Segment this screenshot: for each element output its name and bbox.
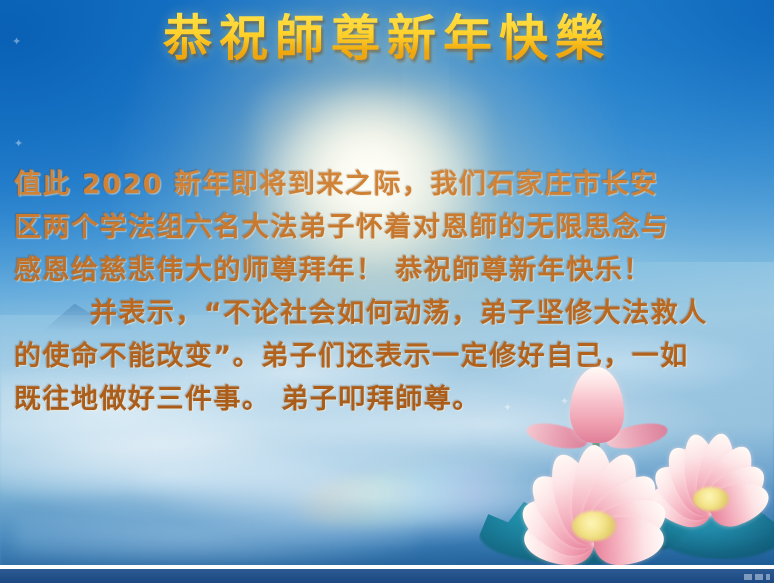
- lotus-center: [572, 511, 616, 541]
- lotus-center: [693, 487, 729, 511]
- card-headline: 恭祝師尊新年快樂: [0, 12, 774, 67]
- body-line: 感恩给慈悲伟大的师尊拜年！ 恭祝師尊新年快乐！: [14, 249, 760, 292]
- body-line: 值此 2020 新年即将到来之际，我们石家庄市长安: [14, 163, 760, 206]
- bottom-band: [0, 569, 774, 583]
- corner-mark-icon: [744, 571, 770, 583]
- body-line: 并表示，“不论社会如何动荡，弟子坚修大法救人: [14, 292, 760, 335]
- greeting-card: ✦ ✦ ✦ ✦ 恭祝師尊新年快樂 值此 2020 新年即将到来之际，我们石家庄市…: [0, 0, 774, 583]
- body-line: 的使命不能改变”。弟子们还表示一定修好自己，一如: [14, 335, 760, 378]
- lotus-bloom-front: [510, 425, 678, 543]
- body-line: 区两个学法组六名大法弟子怀着对恩師的无限思念与: [14, 206, 760, 249]
- lotus-flowers: [474, 375, 774, 565]
